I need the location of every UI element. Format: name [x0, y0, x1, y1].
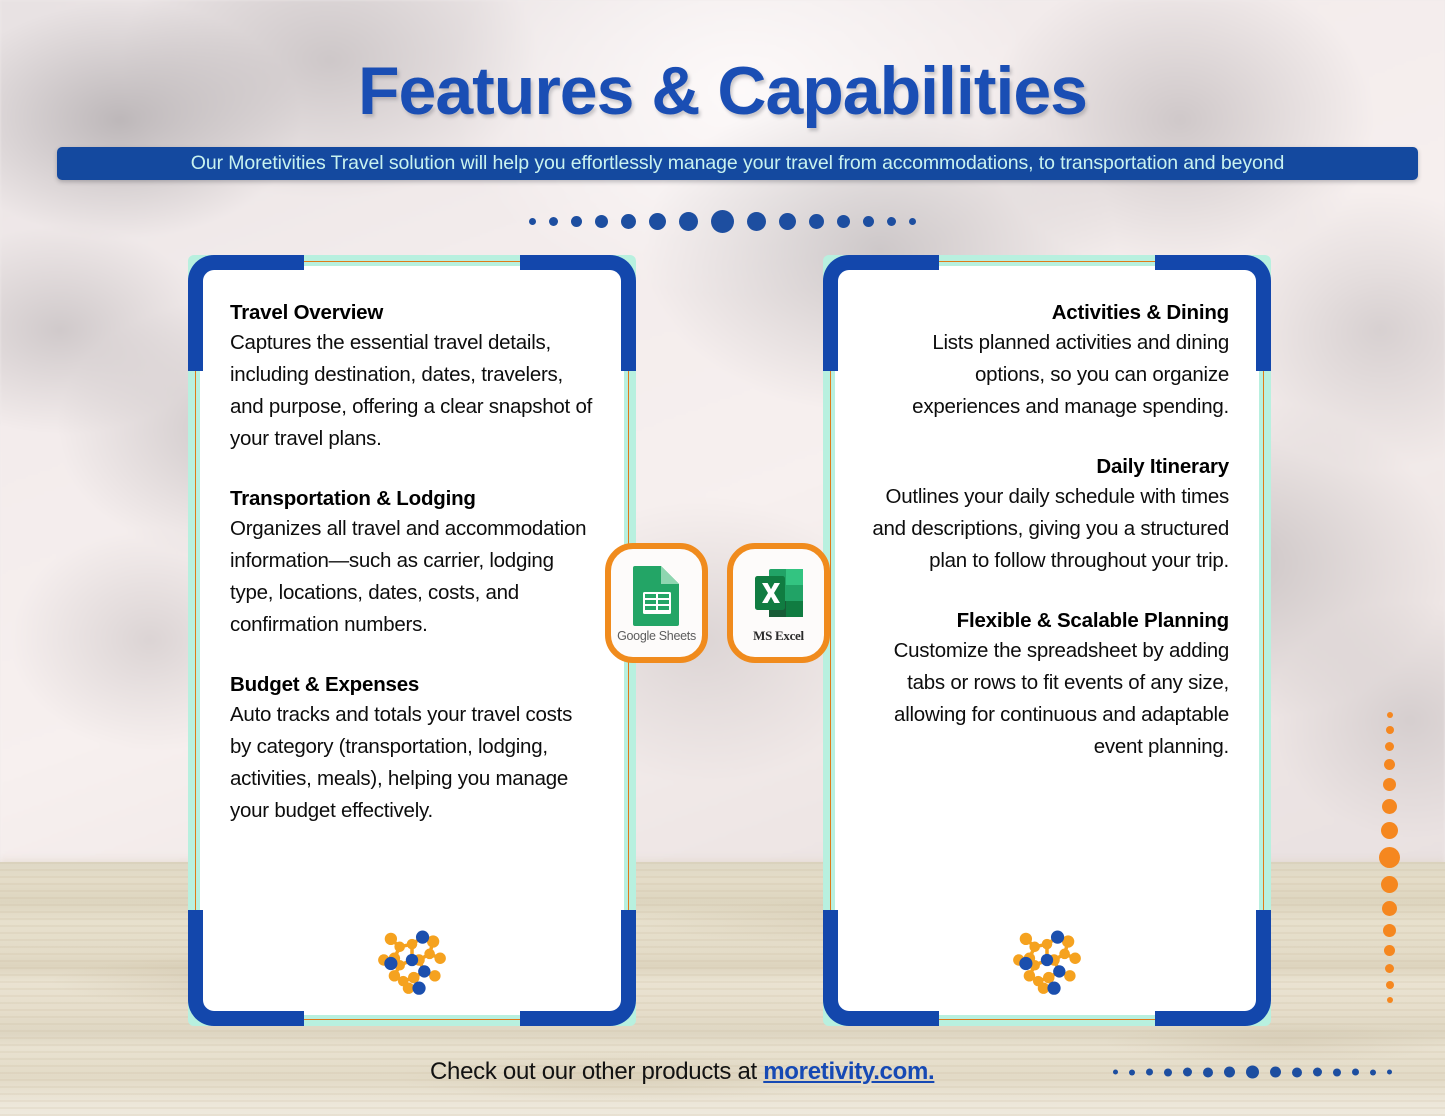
feature-section: Flexible & Scalable Planning Customize t… — [863, 606, 1229, 763]
decor-dot — [1313, 1068, 1322, 1077]
decor-dot — [1386, 726, 1394, 734]
left-card-body: Travel Overview Captures the essential t… — [200, 266, 624, 1015]
decor-dot — [1382, 901, 1397, 916]
top-dot-divider — [0, 206, 1445, 236]
decor-dot — [1203, 1067, 1213, 1077]
decor-dot — [909, 218, 916, 225]
feature-title: Daily Itinerary — [863, 452, 1229, 481]
decor-dot — [1246, 1066, 1259, 1079]
footer-prefix: Check out our other products at — [430, 1058, 763, 1085]
brand-network-logo — [188, 916, 636, 1004]
right-feature-card: Activities & Dining Lists planned activi… — [823, 255, 1271, 1026]
feature-title: Flexible & Scalable Planning — [863, 606, 1229, 635]
decor-dot — [809, 214, 824, 229]
feature-section: Transportation & Lodging Organizes all t… — [230, 484, 596, 641]
decor-dot — [1129, 1069, 1135, 1075]
left-feature-card: Travel Overview Captures the essential t… — [188, 255, 636, 1026]
decor-dot — [837, 215, 850, 228]
feature-title: Budget & Expenses — [230, 670, 596, 699]
brand-network-logo — [823, 916, 1271, 1004]
decor-dot — [1385, 964, 1394, 973]
decor-dot — [1113, 1070, 1118, 1075]
decor-dot — [549, 217, 558, 226]
decor-dot — [1384, 945, 1395, 956]
decor-dot — [1383, 778, 1396, 791]
feature-section: Budget & Expenses Auto tracks and totals… — [230, 670, 596, 827]
right-card-body: Activities & Dining Lists planned activi… — [835, 266, 1259, 1015]
decor-dot — [1164, 1068, 1172, 1076]
decor-dot — [1385, 742, 1394, 751]
feature-body: Auto tracks and totals your travel costs… — [230, 699, 596, 827]
decor-dot — [1387, 712, 1393, 718]
decor-dot — [1386, 981, 1394, 989]
ms-excel-badge[interactable]: MS Excel — [727, 543, 830, 663]
decor-dot — [1352, 1069, 1359, 1076]
feature-body: Outlines your daily schedule with times … — [863, 481, 1229, 577]
decor-dot — [1379, 847, 1400, 868]
decor-dot — [711, 210, 734, 233]
app-icon-badges: Google Sheets MS Excel — [605, 543, 830, 663]
decor-dot — [1387, 997, 1393, 1003]
footer-dot-decoration — [1113, 1066, 1392, 1079]
ms-excel-icon — [751, 563, 807, 625]
decor-dot — [1384, 759, 1395, 770]
feature-body: Customize the spreadsheet by adding tabs… — [863, 635, 1229, 763]
decor-dot — [529, 218, 536, 225]
side-dot-decoration — [1379, 712, 1400, 1003]
network-logo-icon — [368, 916, 456, 1004]
feature-title: Activities & Dining — [863, 298, 1229, 327]
decor-dot — [1292, 1067, 1302, 1077]
decor-dot — [1383, 924, 1396, 937]
decor-dot — [1382, 799, 1397, 814]
feature-section: Travel Overview Captures the essential t… — [230, 298, 596, 455]
decor-dot — [679, 212, 698, 231]
decor-dot — [887, 217, 896, 226]
feature-body: Captures the essential travel details, i… — [230, 327, 596, 455]
subtitle-banner: Our Moretivities Travel solution will he… — [57, 147, 1418, 180]
decor-dot — [779, 213, 796, 230]
google-sheets-badge[interactable]: Google Sheets — [605, 543, 708, 663]
page-title: Features & Capabilities — [0, 57, 1445, 125]
decor-dot — [1270, 1067, 1281, 1078]
ms-excel-label: MS Excel — [753, 628, 804, 644]
decor-dot — [571, 216, 582, 227]
decor-dot — [747, 212, 766, 231]
decor-dot — [1381, 876, 1398, 893]
feature-section: Activities & Dining Lists planned activi… — [863, 298, 1229, 423]
decor-dot — [649, 213, 666, 230]
header: Features & Capabilities Our Moretivities… — [0, 0, 1445, 125]
decor-dot — [1381, 822, 1398, 839]
feature-section: Daily Itinerary Outlines your daily sche… — [863, 452, 1229, 577]
feature-body: Lists planned activities and dining opti… — [863, 327, 1229, 423]
network-logo-icon — [1003, 916, 1091, 1004]
google-sheets-icon — [629, 564, 685, 626]
decor-dot — [1333, 1068, 1341, 1076]
decor-dot — [1146, 1069, 1153, 1076]
google-sheets-label: Google Sheets — [617, 629, 696, 643]
footer-text: Check out our other products at moretivi… — [430, 1058, 934, 1086]
decor-dot — [863, 216, 874, 227]
decor-dot — [1370, 1069, 1376, 1075]
subtitle-text: Our Moretivities Travel solution will he… — [191, 152, 1284, 175]
decor-dot — [595, 215, 608, 228]
decor-dot — [1224, 1067, 1235, 1078]
decor-dot — [621, 214, 636, 229]
feature-title: Travel Overview — [230, 298, 596, 327]
footer: Check out our other products at moretivi… — [0, 1051, 1445, 1093]
decor-dot — [1387, 1070, 1392, 1075]
feature-title: Transportation & Lodging — [230, 484, 596, 513]
decor-dot — [1183, 1068, 1192, 1077]
feature-body: Organizes all travel and accommodation i… — [230, 513, 596, 641]
moretivity-link[interactable]: moretivity.com. — [763, 1058, 934, 1085]
